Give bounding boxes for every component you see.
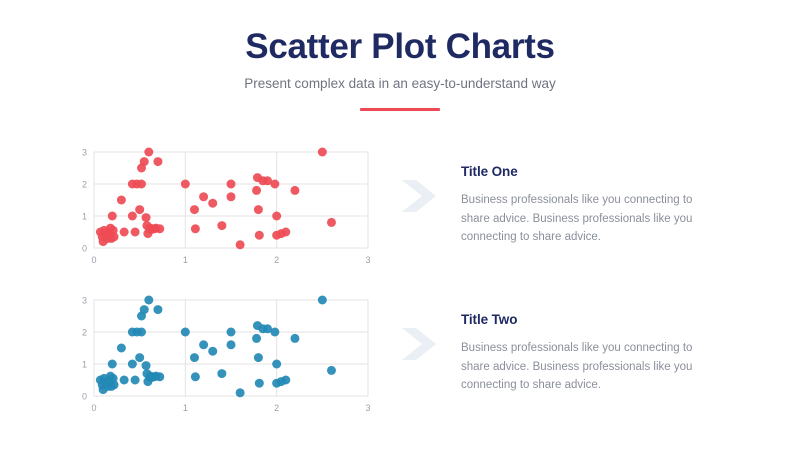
chart-row-one: 01230123 Title One Business professional… (0, 140, 800, 280)
x-axis-tick-label: 0 (91, 255, 96, 265)
scatter-point (140, 305, 149, 314)
scatter-point (128, 360, 137, 369)
scatter-point (318, 148, 327, 157)
chevron-right-icon (398, 324, 442, 364)
scatter-point (191, 372, 200, 381)
title-accent-bar (360, 108, 440, 111)
scatter-point (142, 361, 151, 370)
scatter-point (272, 360, 281, 369)
page-title: Scatter Plot Charts (0, 0, 800, 67)
scatter-point (290, 186, 299, 195)
page-subtitle: Present complex data in an easy-to-under… (0, 67, 800, 92)
panel-body-two: Business professionals like you connecti… (461, 328, 723, 395)
scatter-point (236, 388, 245, 397)
scatter-point (142, 213, 151, 222)
scatter-point (137, 328, 146, 337)
scatter-point (153, 157, 162, 166)
scatter-point (254, 353, 263, 362)
scatter-point (181, 180, 190, 189)
text-panel-two: Title Two Business professionals like yo… (461, 312, 723, 395)
scatter-point (181, 328, 190, 337)
scatter-point (208, 199, 217, 208)
scatter-point (208, 347, 217, 356)
panel-body-one: Business professionals like you connecti… (461, 180, 723, 247)
scatter-point (252, 186, 261, 195)
scatter-point (199, 340, 208, 349)
scatter-point (144, 296, 153, 305)
y-axis-tick-label: 1 (82, 212, 87, 222)
scatter-point (272, 212, 281, 221)
y-axis-tick-label: 3 (82, 148, 87, 158)
scatter-plot-svg-two[interactable]: 01230123 (72, 288, 382, 420)
scatter-point (110, 380, 119, 389)
scatter-point (281, 376, 290, 385)
scatter-point (327, 218, 336, 227)
scatter-point (227, 192, 236, 201)
scatter-point (270, 180, 279, 189)
scatter-point (199, 192, 208, 201)
chevron-right-icon (398, 176, 442, 216)
scatter-plot-svg-one[interactable]: 01230123 (72, 140, 382, 272)
x-axis-tick-label: 2 (274, 255, 279, 265)
y-axis-tick-label: 2 (82, 328, 87, 338)
y-axis-tick-label: 0 (82, 244, 87, 254)
chart-row-two: 01230123 Title Two Business professional… (0, 288, 800, 428)
scatter-point (128, 212, 137, 221)
scatter-point (155, 372, 164, 381)
scatter-point (120, 228, 129, 237)
panel-title-one: Title One (461, 164, 723, 180)
scatter-point (270, 328, 279, 337)
scatter-point (108, 360, 117, 369)
scatter-point (131, 228, 140, 237)
scatter-point (318, 296, 327, 305)
scatter-point (290, 334, 299, 343)
scatter-chart-two[interactable]: 01230123 (72, 288, 382, 420)
scatter-point (117, 196, 126, 205)
x-axis-tick-label: 1 (183, 255, 188, 265)
scatter-point (108, 212, 117, 221)
y-axis-tick-label: 1 (82, 360, 87, 370)
scatter-point (135, 353, 144, 362)
scatter-point (120, 376, 129, 385)
scatter-point (255, 231, 264, 240)
scatter-point (135, 205, 144, 214)
scatter-point (227, 180, 236, 189)
scatter-point (227, 340, 236, 349)
x-axis-tick-label: 3 (365, 255, 370, 265)
y-axis-tick-label: 3 (82, 296, 87, 306)
scatter-point (137, 180, 146, 189)
scatter-point (190, 353, 199, 362)
x-axis-tick-label: 1 (183, 403, 188, 413)
text-panel-one: Title One Business professionals like yo… (461, 164, 723, 247)
slide-header: Scatter Plot Charts Present complex data… (0, 0, 800, 111)
panel-title-two: Title Two (461, 312, 723, 328)
scatter-point (254, 205, 263, 214)
x-axis-tick-label: 3 (365, 403, 370, 413)
scatter-chart-one[interactable]: 01230123 (72, 140, 382, 272)
scatter-point (140, 157, 149, 166)
scatter-point (190, 205, 199, 214)
scatter-point (327, 366, 336, 375)
scatter-point (227, 328, 236, 337)
x-axis-tick-label: 2 (274, 403, 279, 413)
scatter-point (153, 305, 162, 314)
scatter-point (117, 344, 126, 353)
scatter-point (110, 232, 119, 241)
scatter-point (144, 148, 153, 157)
scatter-point (191, 224, 200, 233)
scatter-point (217, 369, 226, 378)
x-axis-tick-label: 0 (91, 403, 96, 413)
scatter-point (236, 240, 245, 249)
y-axis-tick-label: 0 (82, 392, 87, 402)
y-axis-tick-label: 2 (82, 180, 87, 190)
scatter-point (217, 221, 226, 230)
scatter-point (131, 376, 140, 385)
scatter-point (281, 228, 290, 237)
scatter-point (255, 379, 264, 388)
scatter-point (252, 334, 261, 343)
scatter-point (155, 224, 164, 233)
